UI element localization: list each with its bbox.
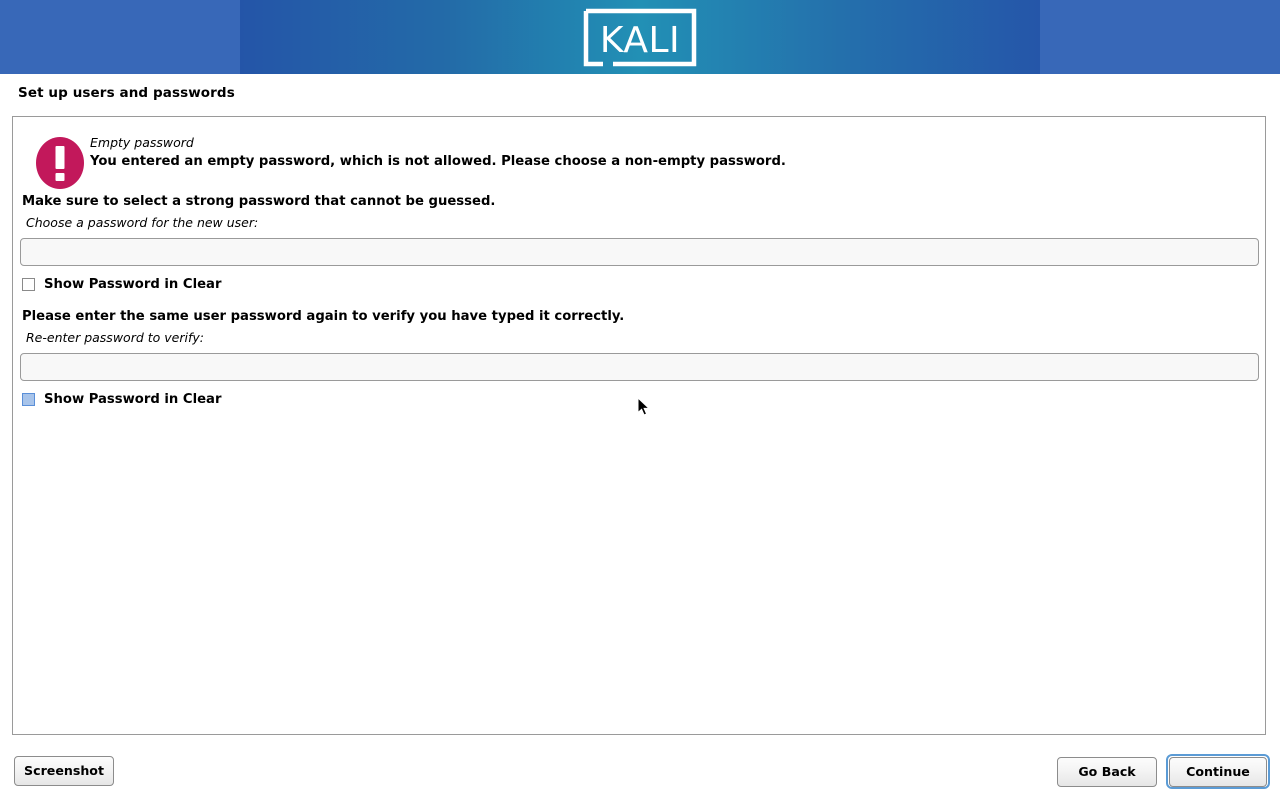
show-password-checkbox-2[interactable]	[22, 393, 35, 406]
svg-text:KALI: KALI	[600, 20, 680, 61]
error-description: You entered an empty password, which is …	[90, 154, 786, 169]
show-password-checkbox-row-2[interactable]: Show Password in Clear	[22, 392, 221, 407]
show-password-checkbox-1[interactable]	[22, 278, 35, 291]
password-field-label: Choose a password for the new user:	[26, 215, 258, 230]
show-password-checkbox-row-1[interactable]: Show Password in Clear	[22, 277, 221, 292]
verify-instruction: Please enter the same user password agai…	[22, 309, 624, 324]
error-title: Empty password	[90, 135, 194, 150]
password-instruction: Make sure to select a strong password th…	[22, 194, 495, 209]
show-password-label-2: Show Password in Clear	[44, 392, 221, 407]
verify-field-label: Re-enter password to verify:	[26, 330, 204, 345]
continue-button[interactable]: Continue	[1169, 757, 1267, 787]
go-back-button[interactable]: Go Back	[1057, 757, 1157, 787]
error-exclamation-icon	[35, 136, 85, 190]
content-panel: Empty password You entered an empty pass…	[12, 116, 1266, 735]
password-input[interactable]	[20, 238, 1259, 266]
installer-window: KALI Set up users and passwords Empty pa…	[0, 0, 1280, 800]
kali-banner: KALI	[0, 0, 1280, 74]
screenshot-button[interactable]: Screenshot	[14, 756, 114, 786]
kali-logo-icon: KALI	[583, 8, 697, 67]
show-password-label-1: Show Password in Clear	[44, 277, 221, 292]
verify-password-input[interactable]	[20, 353, 1259, 381]
page-title: Set up users and passwords	[18, 85, 235, 101]
